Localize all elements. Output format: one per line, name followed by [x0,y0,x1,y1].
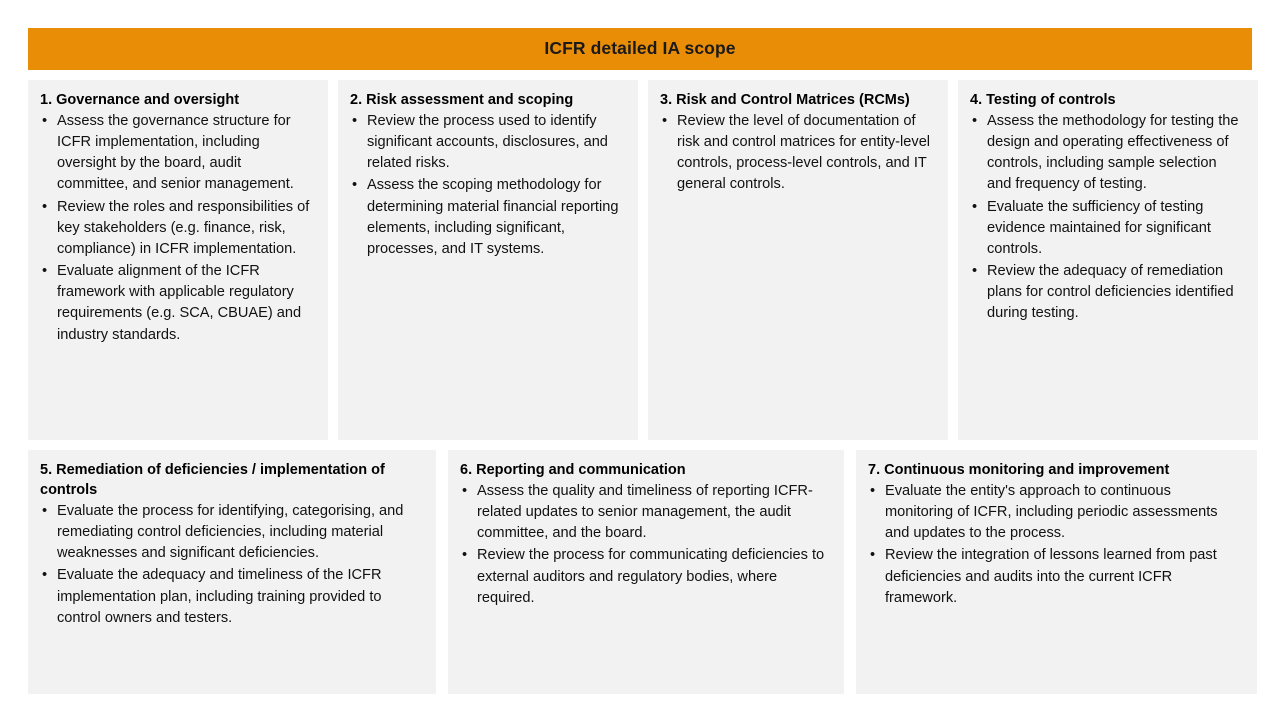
list-item: • Review the roles and responsibilities … [40,197,314,260]
card-title: 7. Continuous monitoring and improvement [868,460,1243,480]
card-governance-and-oversight[interactable]: 1. Governance and oversight • Assess the… [28,80,328,440]
list-item: • Assess the scoping methodology for det… [350,175,624,260]
bullet-dot-icon: • [42,111,47,132]
bullet-dot-icon: • [462,545,467,566]
bullet-list: • Assess the governance structure for IC… [40,111,314,346]
card-title: 3. Risk and Control Matrices (RCMs) [660,90,934,110]
card-continuous-monitoring-and-improvement[interactable]: 7. Continuous monitoring and improvement… [856,450,1257,694]
card-title: 6. Reporting and communication [460,460,830,480]
list-item: • Review the process used to identify si… [350,111,624,174]
bullet-dot-icon: • [662,111,667,132]
bullet-dot-icon: • [42,197,47,218]
list-item-text: Review the process used to identify sign… [367,111,624,174]
list-item-text: Evaluate alignment of the ICFR framework… [57,261,314,346]
bullet-dot-icon: • [462,481,467,502]
card-row-bottom: 5. Remediation of deficiencies / impleme… [28,450,1252,694]
bullet-list: • Assess the methodology for testing the… [970,111,1244,325]
bullet-dot-icon: • [870,545,875,566]
list-item-text: Assess the scoping methodology for deter… [367,175,624,260]
list-item-text: Evaluate the entity's approach to contin… [885,481,1243,544]
bullet-list: • Evaluate the entity's approach to cont… [868,481,1243,609]
list-item: • Evaluate the adequacy and timeliness o… [40,565,422,628]
list-item-text: Review the integration of lessons learne… [885,545,1243,608]
list-item-text: Evaluate the process for identifying, ca… [57,501,422,564]
card-title: 5. Remediation of deficiencies / impleme… [40,460,422,500]
bullet-dot-icon: • [42,501,47,522]
list-item: • Evaluate the sufficiency of testing ev… [970,197,1244,260]
bullet-list: • Review the process used to identify si… [350,111,624,260]
list-item: • Evaluate the process for identifying, … [40,501,422,564]
list-item-text: Review the roles and responsibilities of… [57,197,314,260]
card-risk-and-control-matrices[interactable]: 3. Risk and Control Matrices (RCMs) • Re… [648,80,948,440]
bullet-dot-icon: • [352,111,357,132]
page-title: ICFR detailed IA scope [544,40,735,58]
list-item-text: Review the adequacy of remediation plans… [987,261,1244,324]
list-item: • Assess the methodology for testing the… [970,111,1244,196]
bullet-dot-icon: • [972,111,977,132]
list-item: • Assess the quality and timeliness of r… [460,481,830,544]
list-item-text: Assess the methodology for testing the d… [987,111,1244,196]
list-item-text: Assess the governance structure for ICFR… [57,111,314,196]
list-item: • Review the adequacy of remediation pla… [970,261,1244,324]
header-bar: ICFR detailed IA scope [28,28,1252,70]
list-item: • Assess the governance structure for IC… [40,111,314,196]
card-title: 1. Governance and oversight [40,90,314,110]
bullet-list: • Assess the quality and timeliness of r… [460,481,830,609]
list-item-text: Review the level of documentation of ris… [677,111,934,196]
card-row-top: 1. Governance and oversight • Assess the… [28,80,1252,440]
card-risk-assessment-and-scoping[interactable]: 2. Risk assessment and scoping • Review … [338,80,638,440]
bullet-dot-icon: • [42,261,47,282]
card-title: 2. Risk assessment and scoping [350,90,624,110]
bullet-dot-icon: • [972,197,977,218]
card-reporting-and-communication[interactable]: 6. Reporting and communication • Assess … [448,450,844,694]
list-item: • Evaluate alignment of the ICFR framewo… [40,261,314,346]
card-remediation-of-deficiencies[interactable]: 5. Remediation of deficiencies / impleme… [28,450,436,694]
bullet-dot-icon: • [972,261,977,282]
list-item: • Review the process for communicating d… [460,545,830,608]
slide-canvas: ICFR detailed IA scope 1. Governance and… [0,0,1280,720]
bullet-dot-icon: • [870,481,875,502]
card-title: 4. Testing of controls [970,90,1244,110]
bullet-dot-icon: • [352,175,357,196]
list-item-text: Evaluate the adequacy and timeliness of … [57,565,422,628]
list-item: • Review the level of documentation of r… [660,111,934,196]
bullet-list: • Review the level of documentation of r… [660,111,934,196]
list-item-text: Review the process for communicating def… [477,545,830,608]
list-item-text: Assess the quality and timeliness of rep… [477,481,830,544]
bullet-dot-icon: • [42,565,47,586]
bullet-list: • Evaluate the process for identifying, … [40,501,422,629]
list-item: • Review the integration of lessons lear… [868,545,1243,608]
list-item: • Evaluate the entity's approach to cont… [868,481,1243,544]
list-item-text: Evaluate the sufficiency of testing evid… [987,197,1244,260]
card-testing-of-controls[interactable]: 4. Testing of controls • Assess the meth… [958,80,1258,440]
